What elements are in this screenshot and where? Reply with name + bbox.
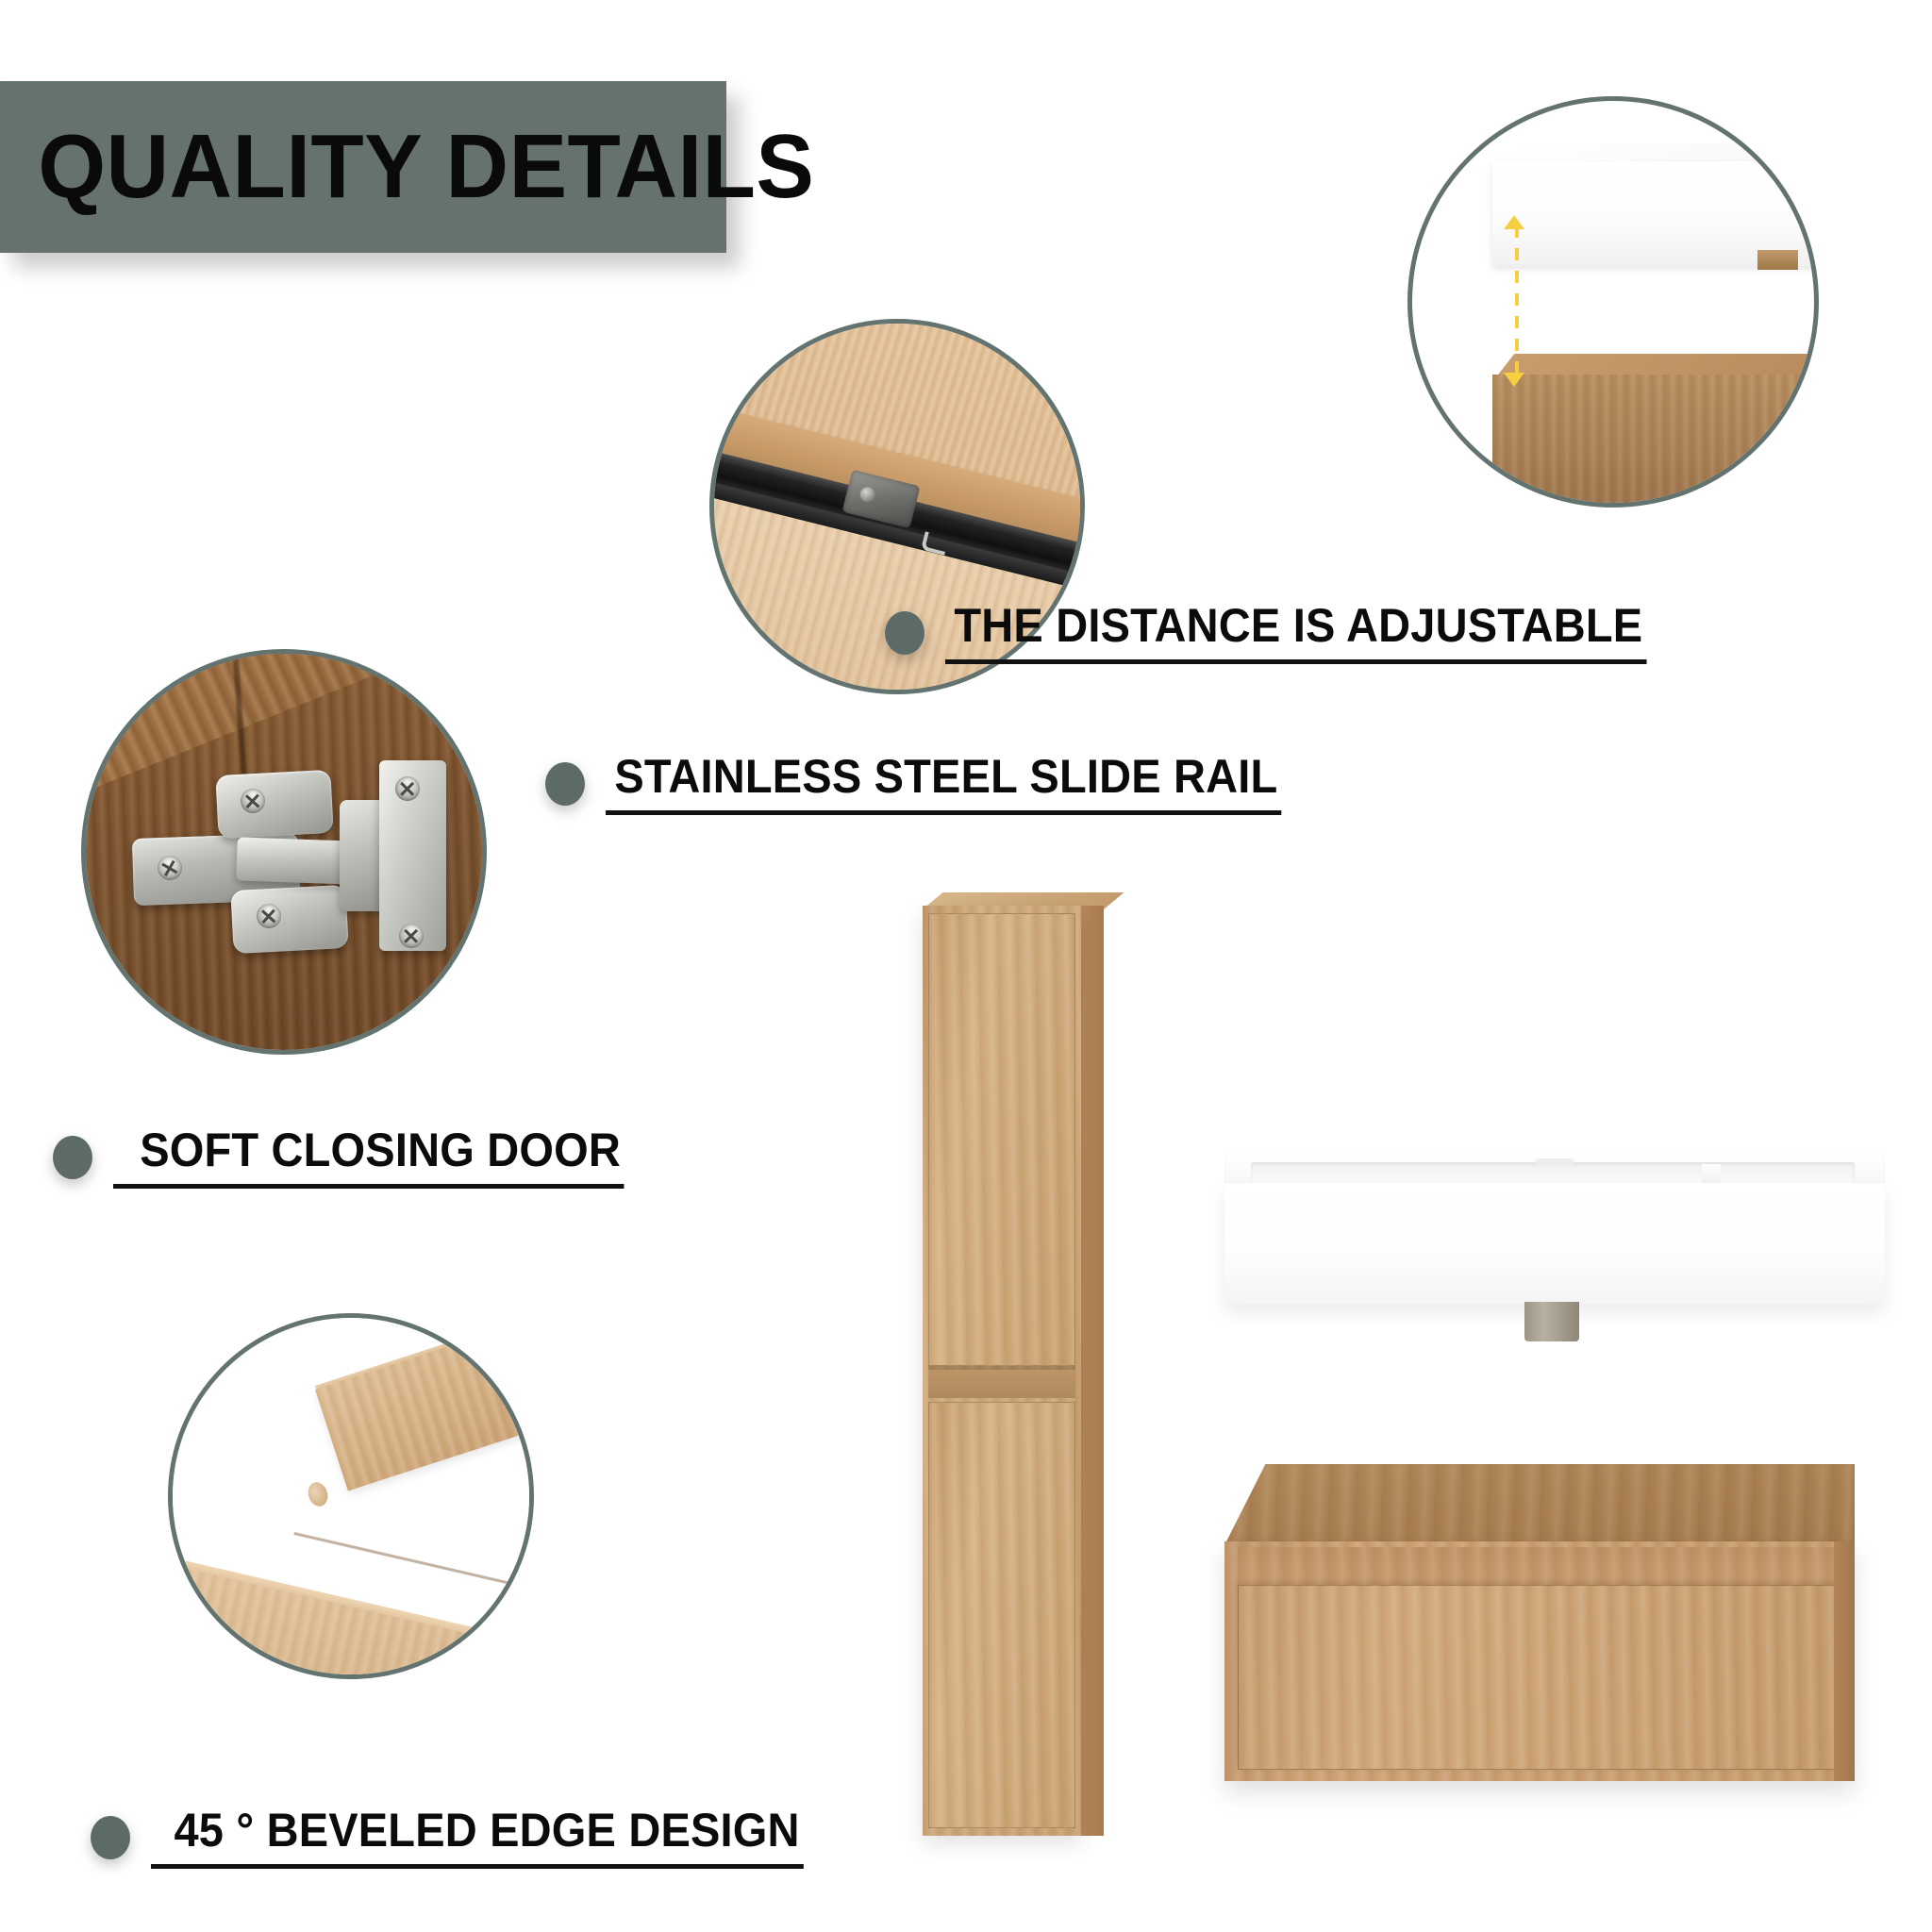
infographic-canvas: QUALITY DETAILS [0, 0, 1932, 1932]
distance-arrow-shaft-icon [1515, 225, 1519, 382]
callout-slide-rail: STAINLESS STEEL SLIDE RAIL [545, 753, 1324, 815]
dowel-hole [305, 1479, 330, 1508]
callout-label: STAINLESS STEEL SLIDE RAIL [606, 753, 1281, 815]
vanity-top-surface [1224, 1464, 1855, 1545]
product-sink-basin [1224, 1153, 1885, 1341]
product-vanity-cabinet [1224, 1464, 1855, 1781]
tall-cabinet-door-upper[interactable] [928, 913, 1075, 1366]
bevel-horizontal-panel [168, 1560, 534, 1679]
bevel-vertical-panel [315, 1313, 534, 1491]
callout-label: 45 ° BEVELED EDGE DESIGN [151, 1807, 803, 1869]
sink-bracket-notch [1757, 250, 1798, 270]
callout-soft-closing-door: SOFT CLOSING DOOR [53, 1126, 657, 1189]
callout-distance-adjustable: THE DISTANCE IS ADJUSTABLE [885, 602, 1691, 664]
bullet-dot-icon [545, 762, 585, 806]
hinge-cup-upper [215, 770, 333, 839]
header-banner: QUALITY DETAILS [0, 81, 726, 253]
callout-label: THE DISTANCE IS ADJUSTABLE [945, 602, 1646, 664]
page-title: QUALITY DETAILS [0, 122, 814, 212]
sink-front-face [1224, 1183, 1885, 1304]
vanity-drawer-front[interactable] [1238, 1585, 1841, 1770]
sink-basin-recess [1251, 1162, 1855, 1185]
hinge-cup-lower [231, 885, 349, 954]
drain-pipe [1524, 1302, 1579, 1341]
product-tall-cabinet [923, 892, 1111, 1836]
distance-arrow-down-icon [1504, 373, 1524, 387]
vanity-side-face [1834, 1541, 1855, 1781]
bullet-dot-icon [53, 1136, 92, 1179]
bullet-dot-icon [885, 611, 924, 655]
faucet-hole [1536, 1158, 1574, 1165]
vanity-top-reveal [1238, 1547, 1841, 1587]
inset-soft-close-hinge [81, 649, 487, 1055]
callout-beveled-edge-design: 45 ° BEVELED EDGE DESIGN [91, 1807, 845, 1869]
beveled-corner-photo [173, 1318, 529, 1674]
wood-cabinet-block [1492, 375, 1819, 508]
bevel-joint-line [293, 1532, 534, 1599]
inset-beveled-edge [168, 1313, 534, 1679]
tall-cabinet-door-lower[interactable] [928, 1402, 1075, 1828]
distance-arrow-up-icon [1504, 215, 1524, 229]
tall-cabinet-side [1081, 906, 1104, 1836]
callout-label: SOFT CLOSING DOOR [113, 1126, 625, 1189]
tall-cabinet-mid-rail [928, 1370, 1075, 1398]
inset-adjustable-distance [1407, 96, 1819, 508]
bullet-dot-icon [91, 1816, 130, 1859]
